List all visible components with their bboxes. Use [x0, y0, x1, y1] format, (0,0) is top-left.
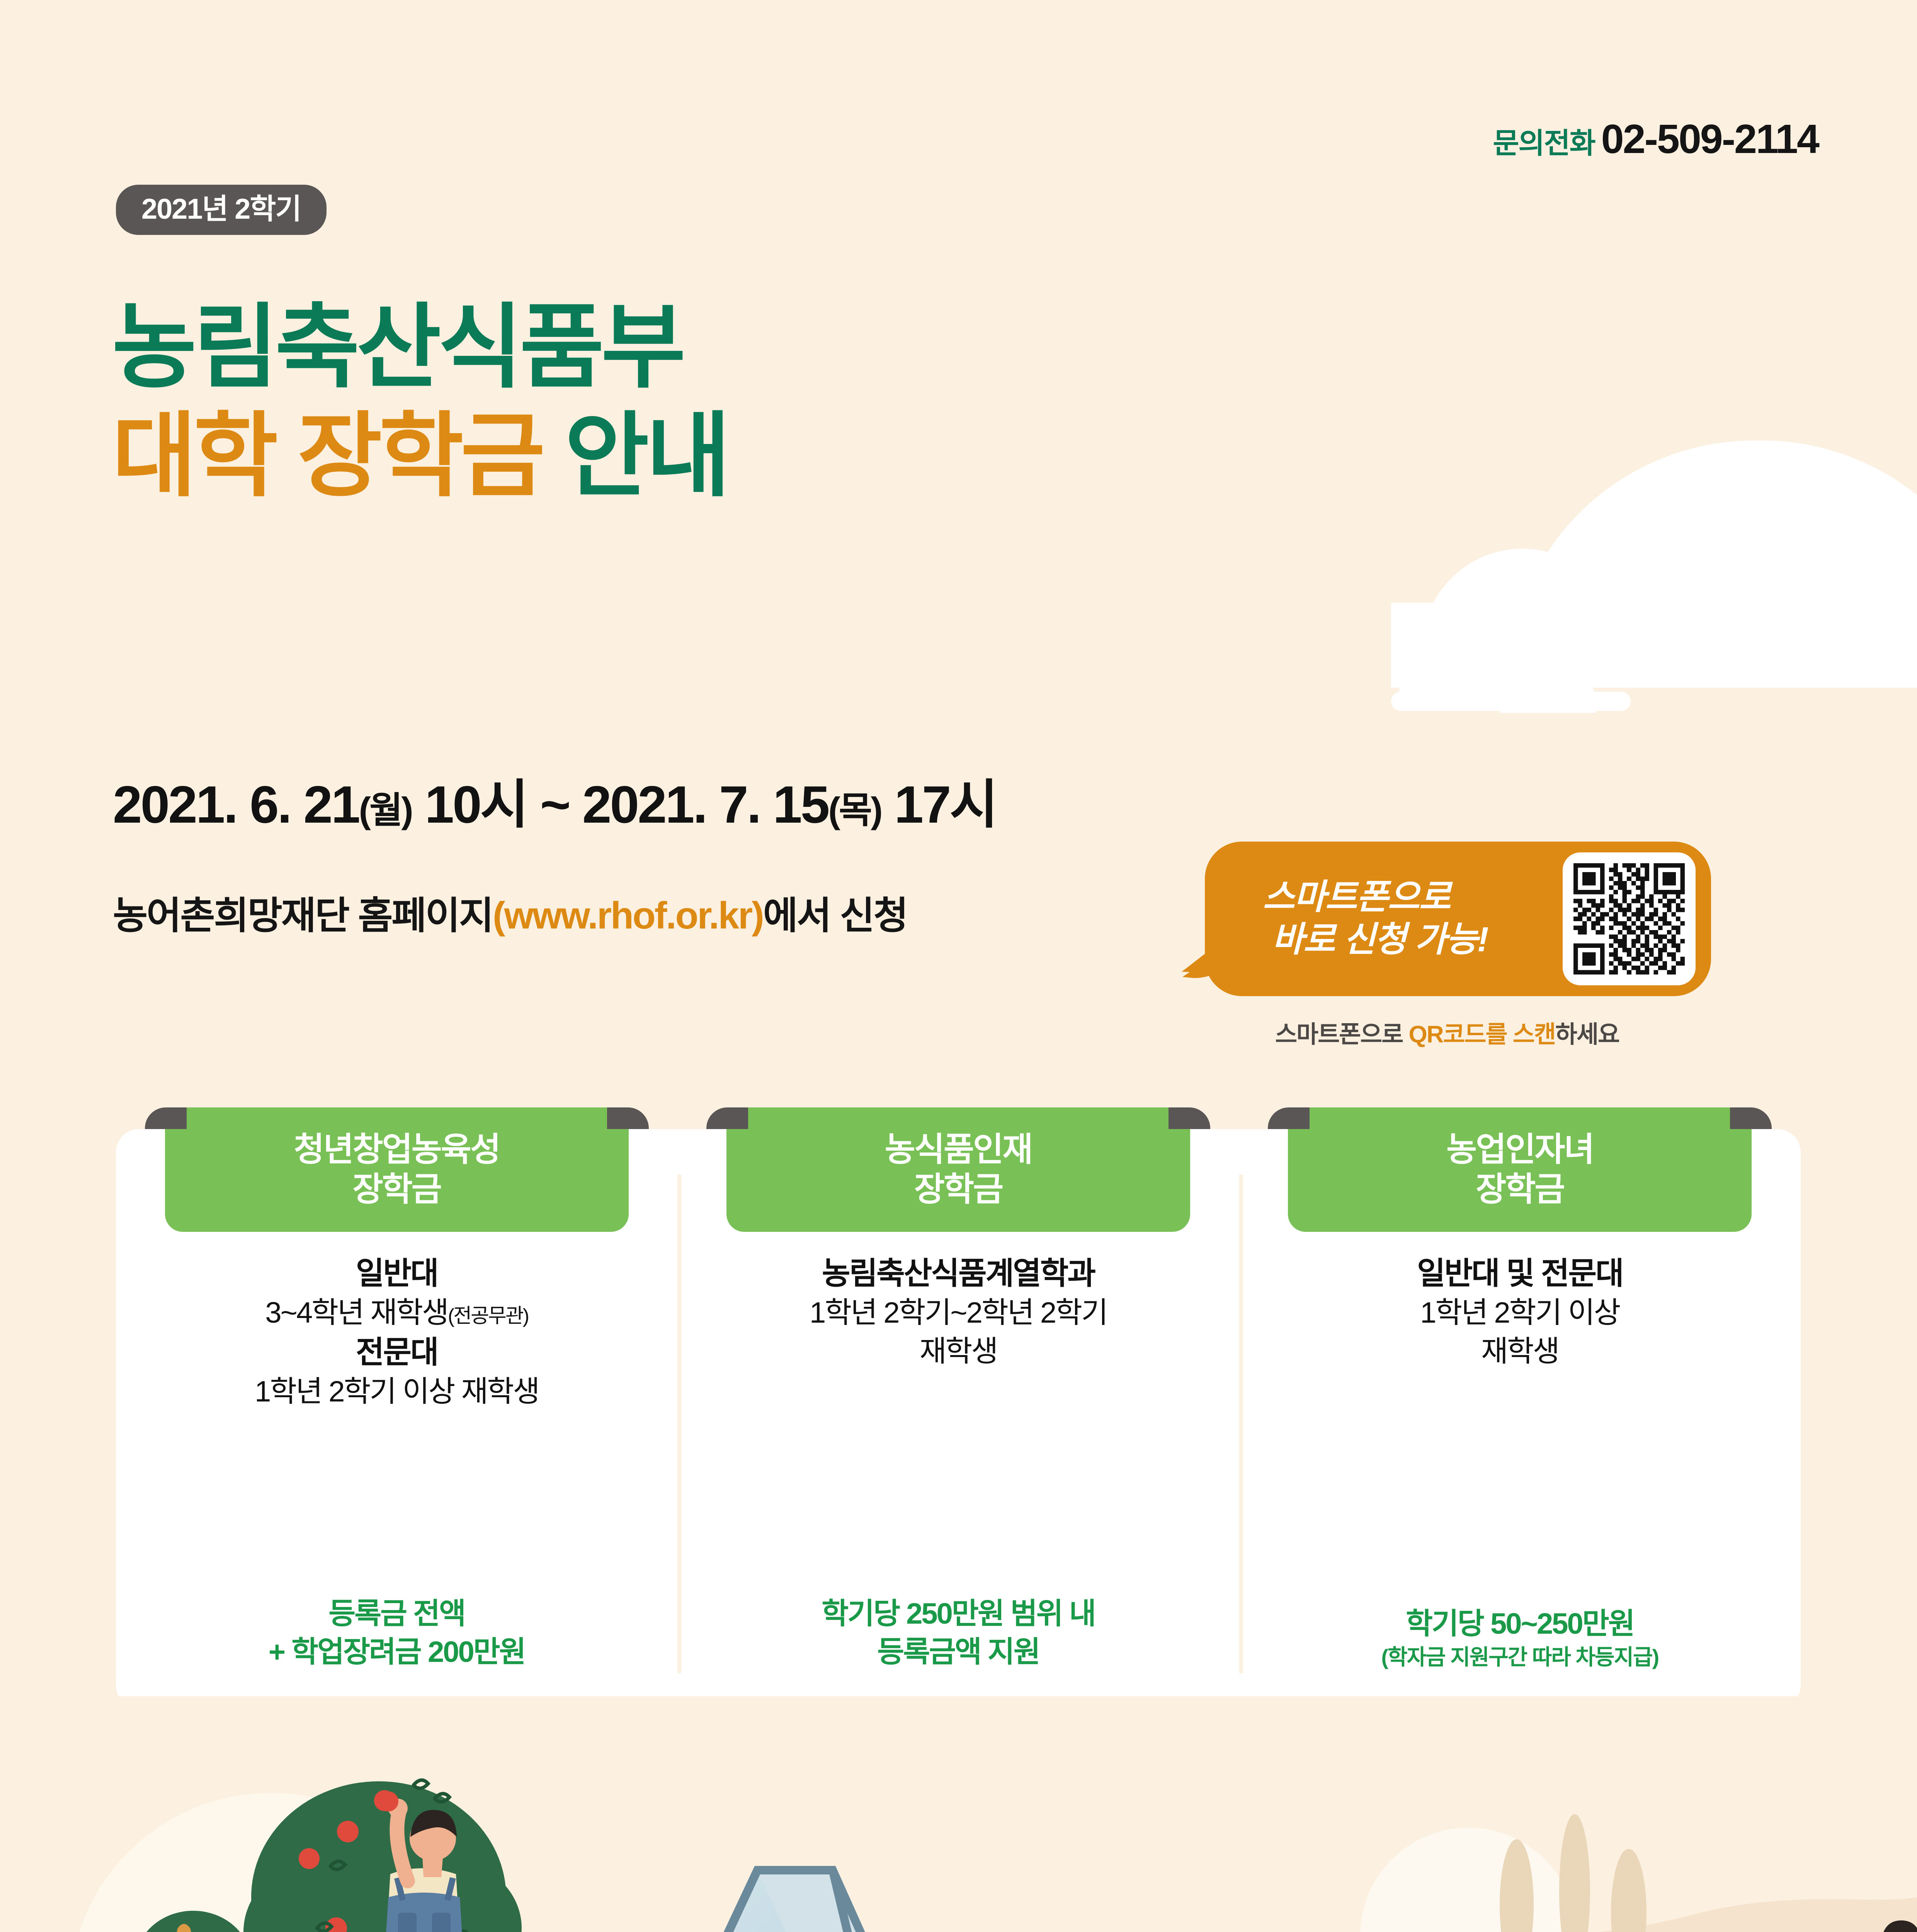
scholarship-card-header-2: 농식품인재장학금 [726, 1107, 1190, 1232]
card-title-line-1: 농업인자녀 [1446, 1130, 1594, 1170]
scholarship-card-body-3: 일반대 및 전문대1학년 2학기 이상재학생 [1402, 1253, 1638, 1371]
card-body-line: 일반대 [255, 1253, 539, 1294]
card-body-line: 1학년 2학기 이상 [1417, 1294, 1623, 1332]
bubble-line-1: 스마트폰으로 [1263, 878, 1450, 917]
card-body-text: 일반대 및 전문대 [1417, 1256, 1623, 1291]
date-start-time: 10시 ~ [412, 775, 582, 834]
amount-line-1: 학기당 50~250만원 [1239, 1605, 1801, 1643]
tape-right-icon [1730, 1107, 1772, 1129]
scholarship-card-1: 청년창업농육성장학금일반대3~4학년 재학생(전공무관)전문대1학년 2학기 이… [116, 1129, 677, 1709]
bubble-line-2: 바로 신청 가능! [1263, 919, 1488, 961]
tape-left-icon [1268, 1107, 1310, 1129]
farm-illustration [0, 1696, 1917, 1932]
card-body-note: (전공무관) [448, 1305, 528, 1327]
card-body-line: 재학생 [1417, 1332, 1623, 1371]
application-period: 2021. 6. 21(월) 10시 ~ 2021. 7. 15(목) 17시 [113, 762, 997, 838]
card-title-line-2: 장학금 [1476, 1170, 1564, 1209]
scholarship-panel: 청년창업농육성장학금일반대3~4학년 재학생(전공무관)전문대1학년 2학기 이… [116, 1129, 1801, 1709]
card-body-text: 1학년 2학기 이상 재학생 [255, 1375, 539, 1408]
amount-line-1: 학기당 250만원 범위 내 [677, 1595, 1239, 1633]
contact-label: 문의전화 [1493, 120, 1595, 162]
scholarship-card-amount-1: 등록금 전액+ 학업장려금 200만원 [116, 1595, 677, 1672]
date-start: 2021. 6. 21 [113, 775, 359, 834]
scholarship-card-header-1: 청년창업농육성장학금 [165, 1107, 629, 1232]
application-site: 농어촌희망재단 홈페이지(www.rhof.or.kr)에서 신청 [113, 885, 907, 940]
card-body-line: 재학생 [810, 1332, 1107, 1371]
amount-line-2: + 학업장려금 200만원 [116, 1633, 677, 1672]
card-body-line: 전문대 [255, 1332, 539, 1372]
title-line-2-green: 안내 [565, 405, 728, 507]
site-suffix: 에서 신청 [763, 894, 907, 937]
card-body-line: 1학년 2학기~2학년 2학기 [810, 1294, 1107, 1332]
card-body-line: 일반대 및 전문대 [1417, 1253, 1623, 1294]
bubble-text: 스마트폰으로 바로 신청 가능! [1205, 876, 1488, 961]
scholarship-card-3: 농업인자녀장학금일반대 및 전문대1학년 2학기 이상재학생학기당 50~250… [1239, 1129, 1801, 1709]
site-url[interactable]: (www.rhof.or.kr) [493, 894, 763, 937]
contact-number[interactable]: 02-509-2114 [1601, 116, 1818, 163]
card-body-text: 3~4학년 재학생 [265, 1296, 448, 1329]
card-body-text: 전문대 [356, 1335, 438, 1369]
date-end-day: (목) [828, 790, 881, 830]
qr-code-icon [1573, 863, 1685, 975]
qr-caption-pre: 스마트폰으로 [1275, 1021, 1408, 1048]
scholarship-card-amount-2: 학기당 250만원 범위 내등록금액 지원 [677, 1595, 1239, 1672]
amount-line-1: 등록금 전액 [116, 1595, 677, 1633]
card-body-text: 일반대 [356, 1256, 438, 1291]
date-start-day: (월) [359, 790, 412, 830]
title-line-1: 농림축산식품부 [112, 294, 728, 402]
card-title-line-2: 장학금 [352, 1170, 441, 1209]
card-title-line-2: 장학금 [914, 1170, 1002, 1209]
card-body-line: 농림축산식품계열학과 [810, 1253, 1107, 1294]
title-line-2: 대학 장학금 안내 [112, 402, 728, 511]
scholarship-card-body-1: 일반대3~4학년 재학생(전공무관)전문대1학년 2학기 이상 재학생 [239, 1253, 554, 1412]
qr-code[interactable] [1563, 852, 1696, 985]
scholarship-card-header-3: 농업인자녀장학금 [1288, 1107, 1752, 1232]
card-body-line: 3~4학년 재학생(전공무관) [255, 1294, 539, 1332]
tape-left-icon [145, 1107, 187, 1129]
tape-left-icon [706, 1107, 748, 1129]
tape-right-icon [607, 1107, 649, 1129]
qr-caption-bold: QR코드를 스캔 [1408, 1021, 1555, 1048]
card-body-text: 1학년 2학기~2학년 2학기 [810, 1296, 1107, 1329]
date-end-time: 17시 [881, 775, 997, 834]
semester-badge: 2021년 2학기 [116, 185, 327, 235]
page-title: 농림축산식품부 대학 장학금 안내 [112, 294, 728, 511]
card-body-text: 농림축산식품계열학과 [822, 1256, 1095, 1291]
card-body-text: 1학년 2학기 이상 [1420, 1296, 1619, 1329]
amount-line-2: 등록금액 지원 [677, 1633, 1239, 1672]
site-prefix: 농어촌희망재단 홈페이지 [113, 894, 493, 937]
qr-speech-bubble: 스마트폰으로 바로 신청 가능! [1205, 842, 1711, 996]
card-title-line-1: 청년창업농육성 [294, 1130, 500, 1170]
scholarship-card-list: 청년창업농육성장학금일반대3~4학년 재학생(전공무관)전문대1학년 2학기 이… [116, 1129, 1801, 1709]
scholarship-card-body-2: 농림축산식품계열학과1학년 2학기~2학년 2학기재학생 [794, 1253, 1123, 1371]
card-body-line: 1학년 2학기 이상 재학생 [255, 1372, 539, 1411]
tape-right-icon [1169, 1107, 1210, 1129]
poster-root: 문의전화 02-509-2114 2021년 2학기 농림축산식품부 대학 장학… [0, 0, 1917, 1932]
title-line-2-orange: 대학 장학금 [112, 405, 542, 507]
qr-caption: 스마트폰으로 QR코드를 스캔하세요 [1275, 1015, 1619, 1049]
amount-note: (학자금 지원구간 따라 차등지급) [1239, 1643, 1801, 1672]
scholarship-card-amount-3: 학기당 50~250만원(학자금 지원구간 따라 차등지급) [1239, 1605, 1801, 1672]
scholarship-card-2: 농식품인재장학금농림축산식품계열학과1학년 2학기~2학년 2학기재학생학기당 … [677, 1129, 1239, 1709]
card-body-text: 재학생 [1481, 1335, 1559, 1368]
date-end: 2021. 7. 15 [582, 775, 828, 834]
contact-info: 문의전화 02-509-2114 [1493, 116, 1818, 163]
card-body-text: 재학생 [920, 1335, 997, 1368]
card-title-line-1: 농식품인재 [885, 1130, 1032, 1170]
qr-caption-post: 하세요 [1555, 1021, 1619, 1048]
